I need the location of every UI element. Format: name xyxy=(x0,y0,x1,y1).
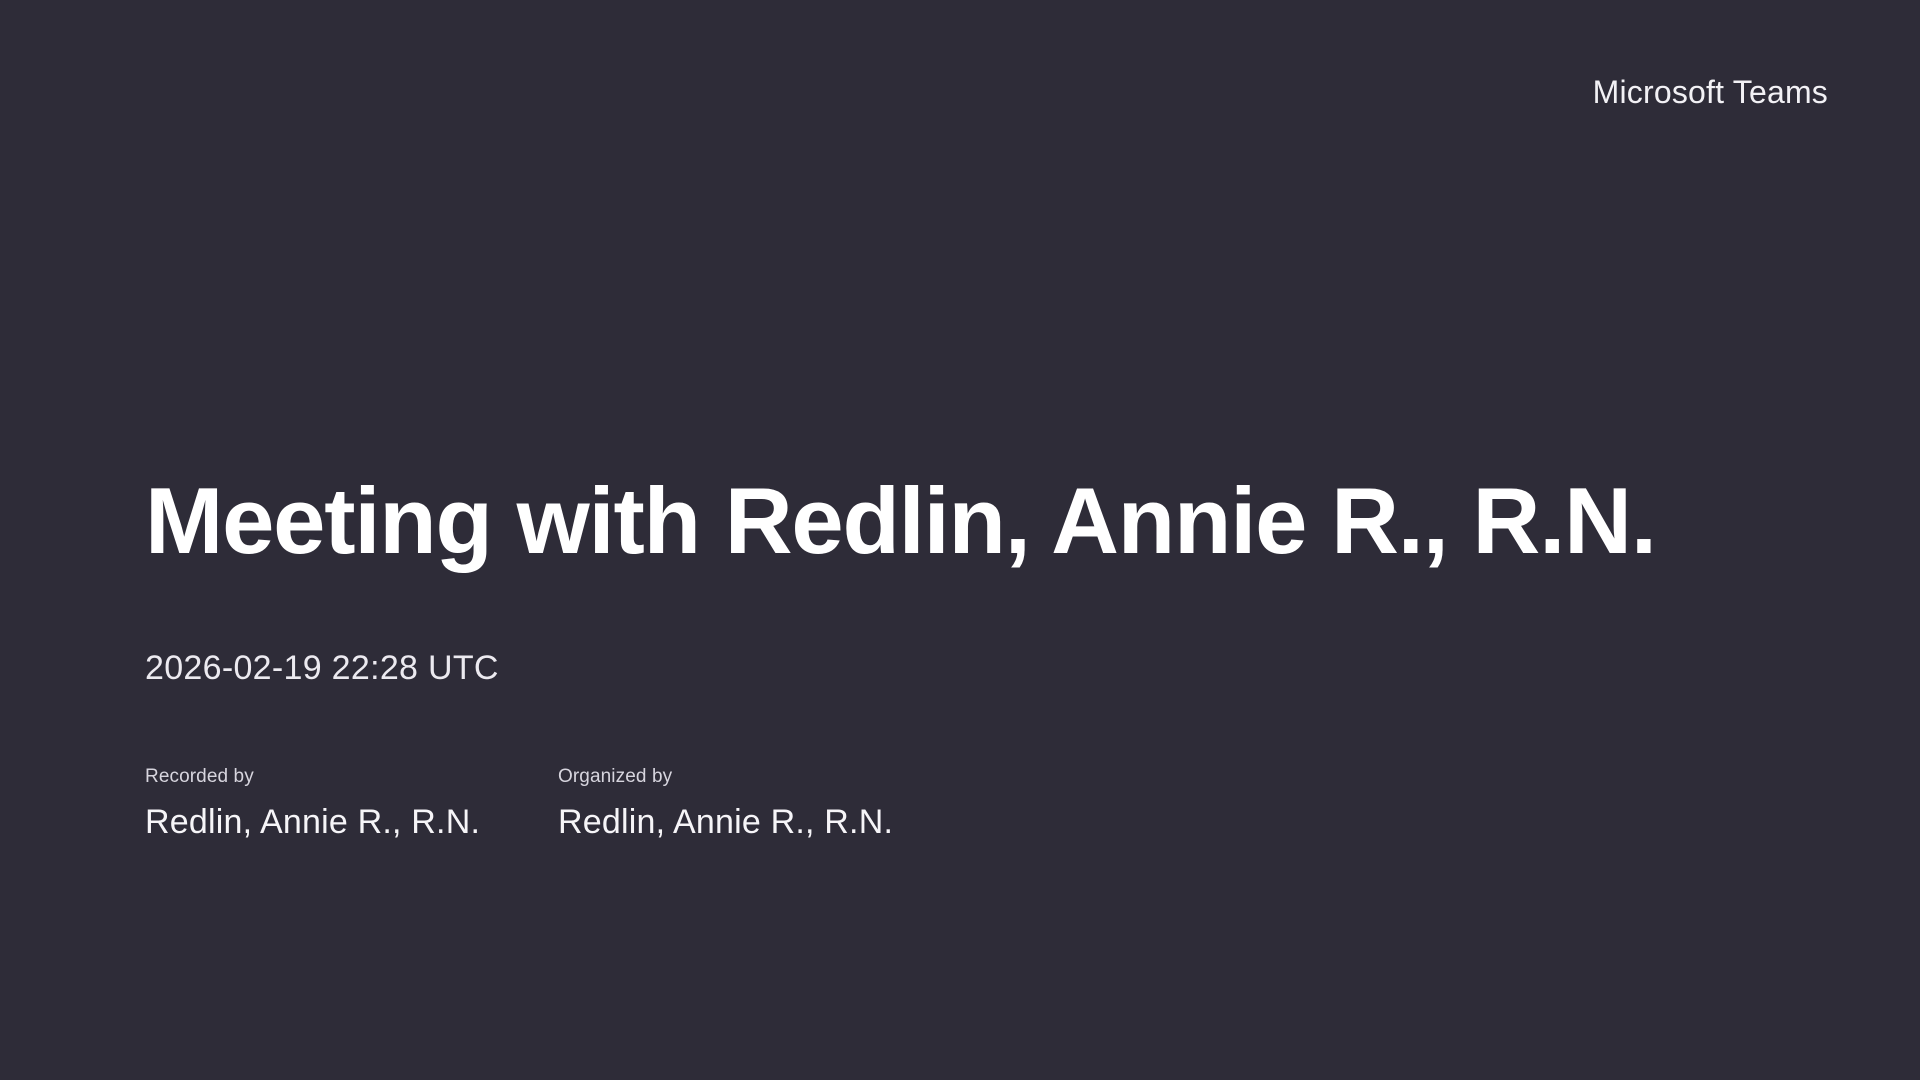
microsoft-teams-brand-label: Microsoft Teams xyxy=(1593,76,1828,108)
recording-title-slide: Microsoft Teams Meeting with Redlin, Ann… xyxy=(0,0,1920,1080)
organized-by-column: Organized by Redlin, Annie R., R.N. xyxy=(558,766,893,843)
recorded-by-column: Recorded by Redlin, Annie R., R.N. xyxy=(145,766,558,843)
recorded-by-value: Redlin, Annie R., R.N. xyxy=(145,802,558,843)
meeting-details-block: Meeting with Redlin, Annie R., R.N. 2026… xyxy=(145,470,1830,843)
meeting-timestamp: 2026-02-19 22:28 UTC xyxy=(145,648,1830,689)
credits-row: Recorded by Redlin, Annie R., R.N. Organ… xyxy=(145,766,1830,843)
organized-by-value: Redlin, Annie R., R.N. xyxy=(558,802,893,843)
organized-by-label: Organized by xyxy=(558,766,893,789)
recorded-by-label: Recorded by xyxy=(145,766,558,789)
meeting-title: Meeting with Redlin, Annie R., R.N. xyxy=(145,470,1830,572)
